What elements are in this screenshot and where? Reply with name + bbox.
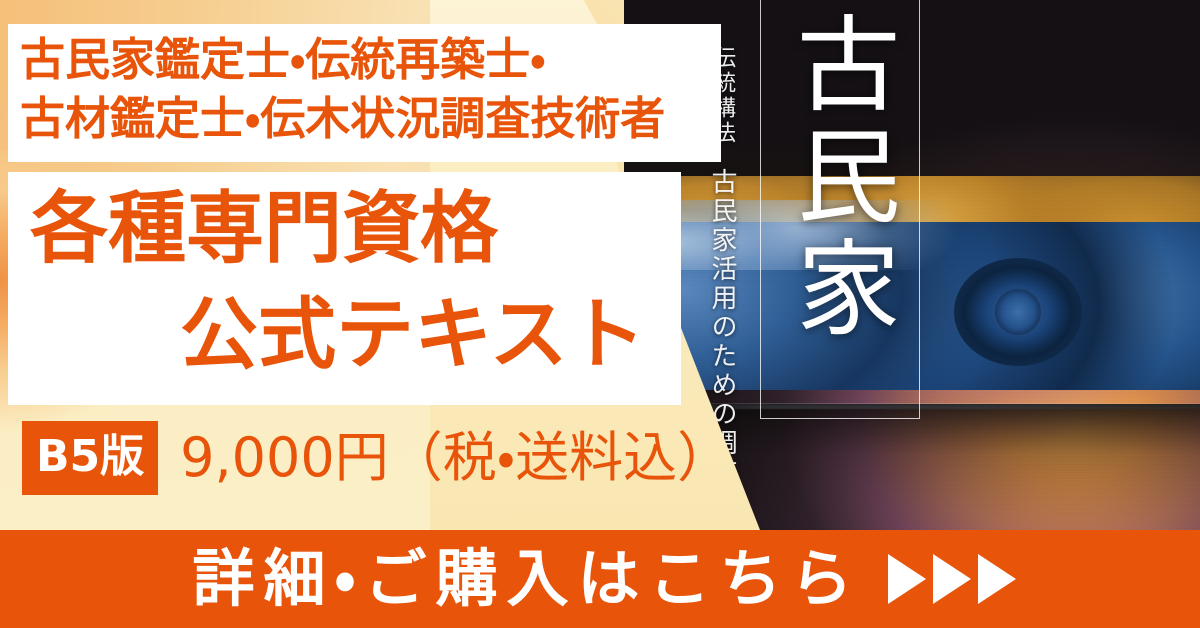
- main-heading-line-2: 公式テキスト: [8, 282, 681, 388]
- cta-bar[interactable]: 詳細・ご購入はこちら: [0, 530, 1200, 628]
- triangle-right-icon: [933, 554, 971, 604]
- sub-heading: 古民家鑑定士・伝統再築士・ 古材鑑定士・伝木状況調査技術者: [20, 30, 720, 149]
- price-row: B5版 9,000円（税・送料込）: [22, 420, 731, 496]
- promo-banner: 古民家 伝統構法 古民家活用のための調査と再生の 古民家鑑定士・伝統再築士・ 古…: [0, 0, 1200, 628]
- main-heading: 各種専門資格 公式テキスト: [8, 176, 681, 388]
- main-heading-line-1: 各種専門資格: [8, 176, 681, 282]
- triangle-right-icon: [978, 554, 1016, 604]
- cta-label: 詳細・ご購入はこちら: [184, 548, 861, 610]
- book-cover-title: 古民家: [776, 10, 902, 346]
- cta-arrows: [888, 554, 1016, 604]
- triangle-right-icon: [888, 554, 926, 604]
- sub-heading-line-1: 古民家鑑定士・伝統再築士・: [20, 30, 720, 89]
- sub-heading-line-2: 古材鑑定士・伝木状況調査技術者: [20, 89, 720, 148]
- format-badge: B5版: [22, 421, 158, 495]
- price-text: 9,000円（税・送料込）: [180, 431, 731, 485]
